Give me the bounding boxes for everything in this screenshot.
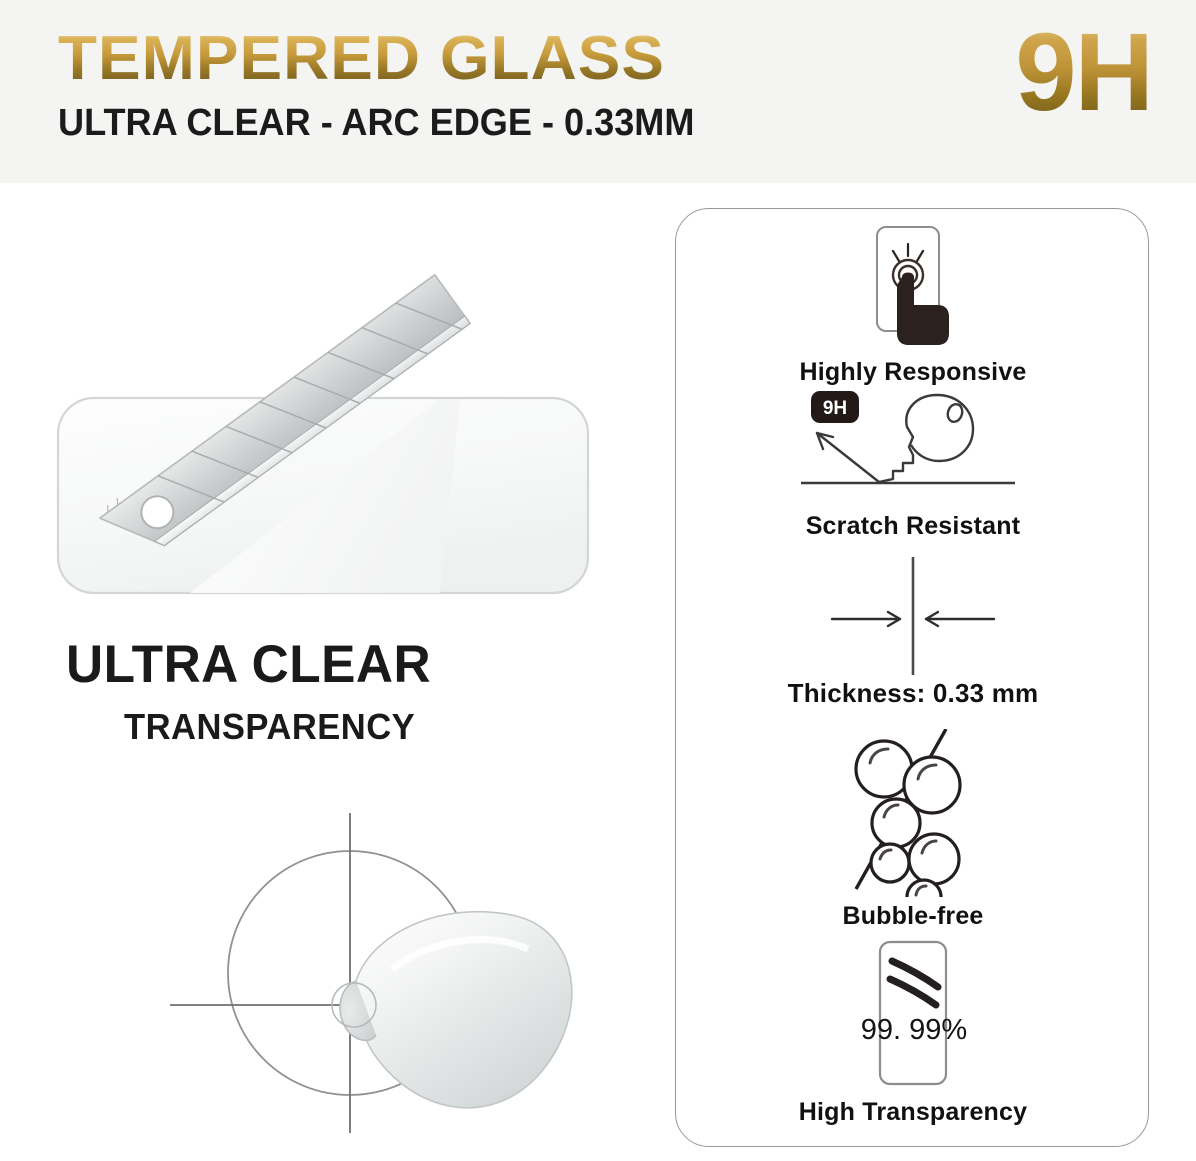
hardness-badge-9h: 9H (1015, 18, 1152, 128)
feature-thickness: Thickness: 0.33 mm (676, 557, 1150, 708)
left-panel: ULTRA CLEAR TRANSPARENCY (0, 183, 660, 1161)
transparency-screen-icon: 99. 99% (848, 939, 978, 1089)
transparency-subheading: TRANSPARENCY (124, 709, 430, 745)
bubbles-crossed-icon (818, 729, 1008, 897)
header-titles: TEMPERED GLASS ULTRA CLEAR - ARC EDGE - … (58, 28, 728, 142)
features-panel: Highly Responsive 9H (675, 208, 1149, 1147)
feature-high-transparency: 99. 99% High Transparency (676, 939, 1150, 1127)
ultra-clear-heading: ULTRA CLEAR (66, 638, 431, 691)
svg-text:9H: 9H (823, 398, 847, 419)
page-title: TEMPERED GLASS (58, 28, 748, 90)
feature-bubble-free: Bubble-free (676, 729, 1150, 931)
feature-label-thickness: Thickness: 0.33 mm (676, 679, 1150, 708)
touch-finger-icon (853, 223, 973, 351)
thickness-arrows-icon (808, 557, 1018, 675)
feature-label-scratch-resistant: Scratch Resistant (676, 513, 1150, 541)
ultra-clear-heading-block: ULTRA CLEAR TRANSPARENCY (66, 638, 442, 745)
feature-label-highly-responsive: Highly Responsive (676, 359, 1150, 387)
feature-label-high-transparency: High Transparency (676, 1099, 1150, 1127)
header-band: TEMPERED GLASS ULTRA CLEAR - ARC EDGE - … (0, 0, 1196, 183)
arc-edge-illustration (20, 783, 620, 1133)
blade-over-glass-illustration (40, 203, 620, 623)
feature-highly-responsive: Highly Responsive (676, 223, 1150, 387)
page-subtitle: ULTRA CLEAR - ARC EDGE - 0.33MM (58, 104, 694, 142)
feature-scratch-resistant: 9H Scratch Resistant (676, 387, 1150, 541)
badge-9h-small: 9H (811, 391, 859, 423)
transparency-percent: 99. 99% (861, 1014, 967, 1046)
feature-label-bubble-free: Bubble-free (676, 903, 1150, 931)
key-scratch-icon: 9H (793, 387, 1033, 507)
product-infographic: TEMPERED GLASS ULTRA CLEAR - ARC EDGE - … (0, 0, 1196, 1161)
